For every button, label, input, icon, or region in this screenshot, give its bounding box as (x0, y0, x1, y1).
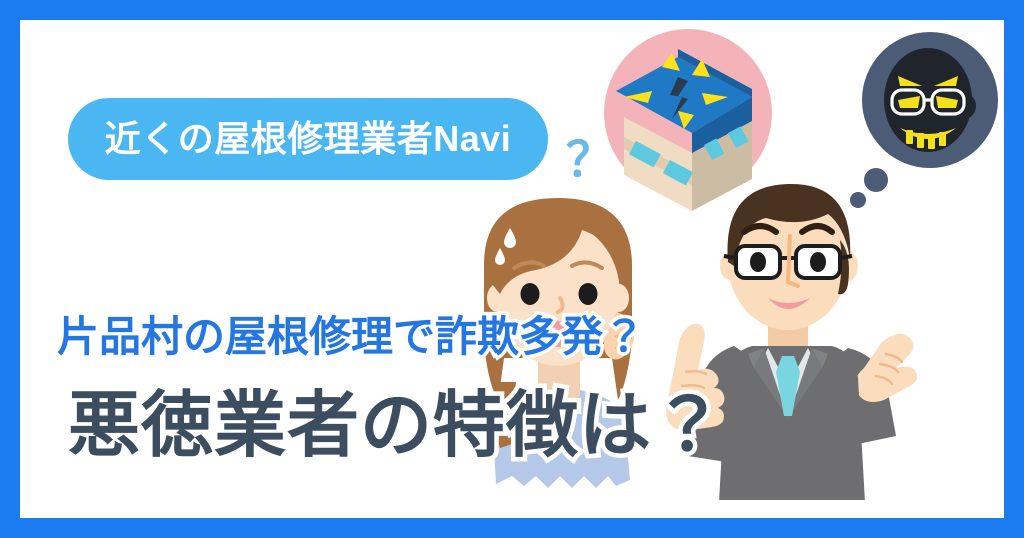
headline-subtitle: 片品村の屋根修理で詐欺多発？ (57, 316, 645, 358)
headline-title: 悪徳業者の特徴は？ (68, 390, 725, 462)
badge-question-mark: ？ (566, 137, 614, 185)
site-name-label: 近くの屋根修理業者Navi (105, 121, 512, 157)
banner-frame: 近くの屋根修理業者Navi ？ 片品村の屋根修理で詐欺多発？ 悪徳業者の特徴は？ (0, 0, 1024, 538)
banner-canvas: 近くの屋根修理業者Navi ？ 片品村の屋根修理で詐欺多発？ 悪徳業者の特徴は？ (20, 20, 1004, 518)
site-name-badge[interactable]: 近くの屋根修理業者Navi (68, 98, 548, 180)
man-suit (718, 346, 866, 500)
